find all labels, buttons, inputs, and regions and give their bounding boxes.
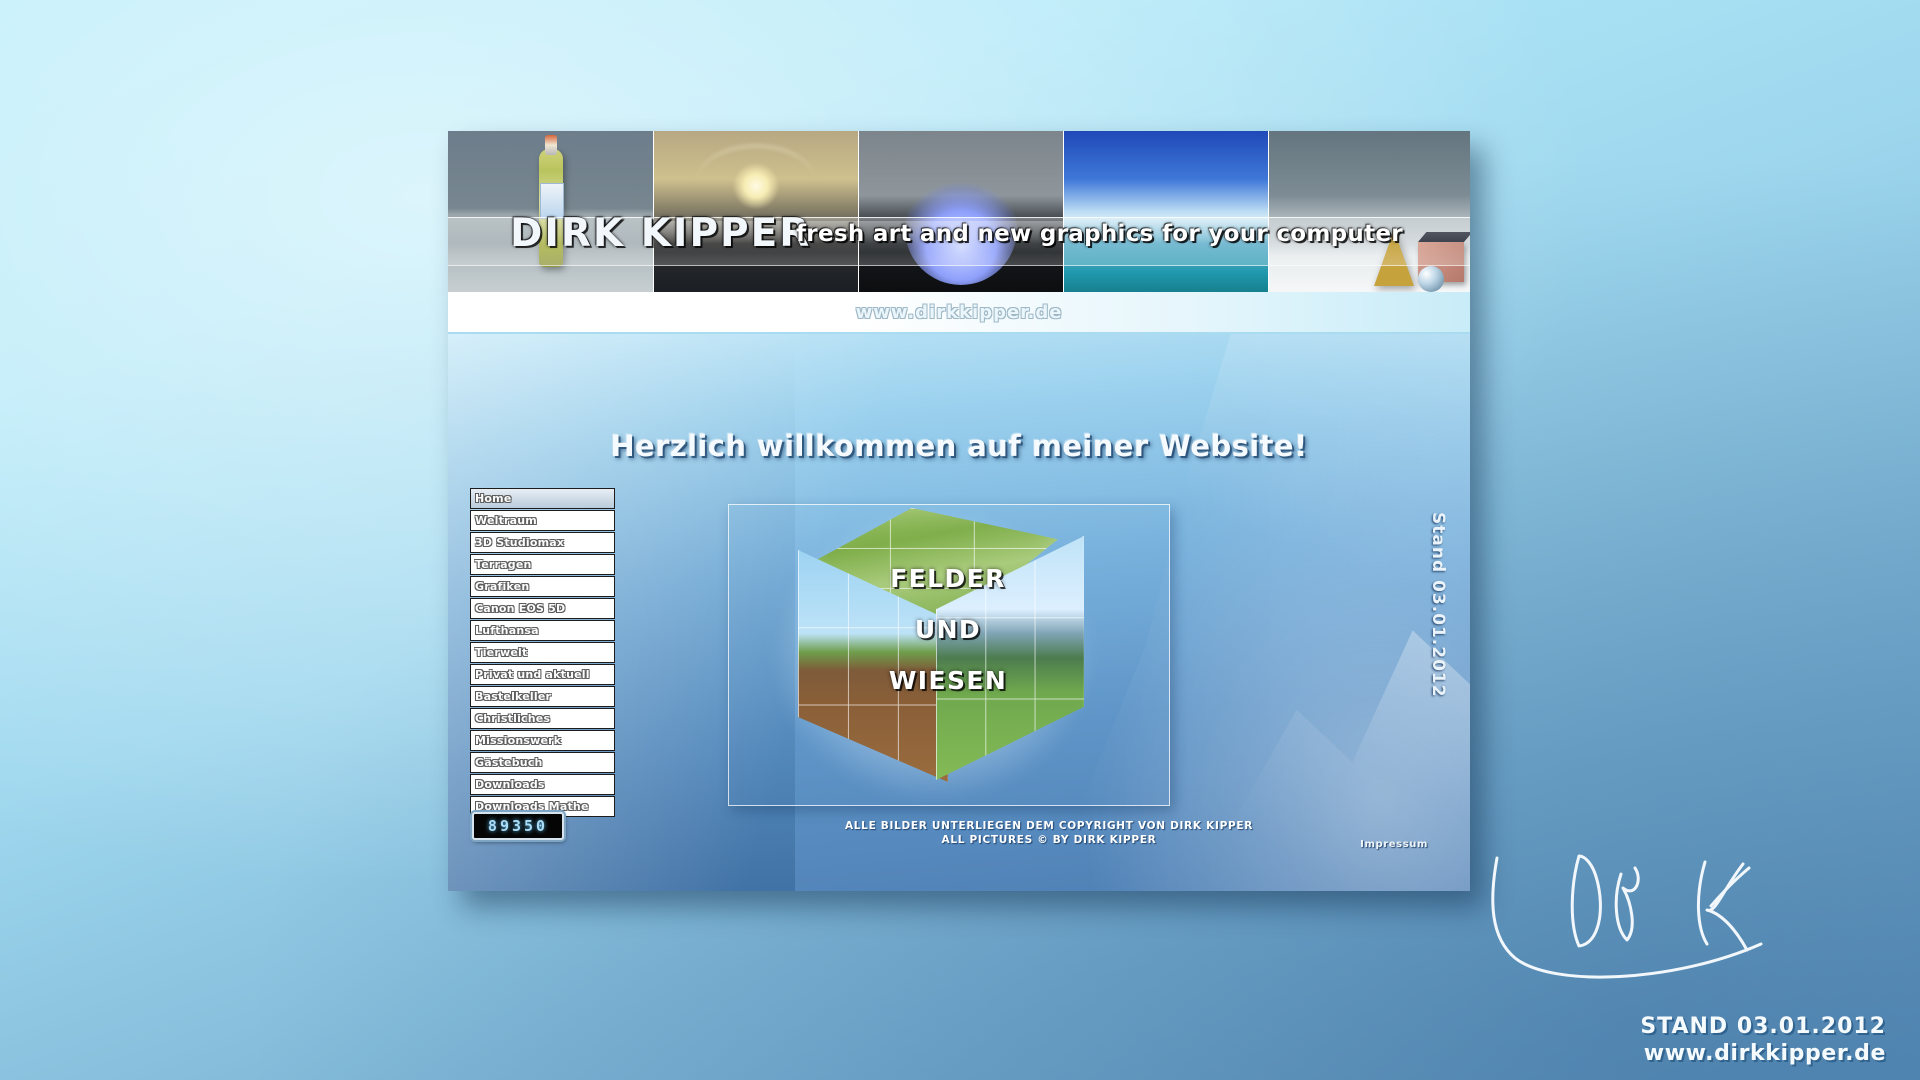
signature-graphic [1475,840,1875,990]
menu-item-christliches[interactable]: Christliches [470,708,615,729]
cube-caption: FELDER UND WIESEN [728,564,1168,717]
watermark-url: www.dirkkipper.de [1640,1041,1886,1066]
copyright-notice: ALLE BILDER UNTERLIEGEN DEM COPYRIGHT VO… [668,819,1430,847]
cube-caption-line3: WIESEN [728,666,1168,695]
cube-caption-line2: UND [728,615,1168,644]
menu-item-tierwelt[interactable]: Tierwelt [470,642,615,663]
menu-item-privat-und-aktuell[interactable]: Privat und aktuell [470,664,615,685]
site-url-bar: www.dirkkipper.de [448,292,1470,334]
visitor-counter: 89350 [472,812,564,840]
menu-item-bastelkeller[interactable]: Bastelkeller [470,686,615,707]
header-image-3d-objects [1268,131,1470,292]
header-image-ocean-sky [1063,131,1268,292]
menu-item-weltraum[interactable]: Weltraum [470,510,615,531]
menu-item-gaestebuch[interactable]: Gästebuch [470,752,615,773]
menu-item-downloads[interactable]: Downloads [470,774,615,795]
site-tagline: fresh art and new graphics for your comp… [796,221,1403,247]
impressum-link[interactable]: Impressum [1360,839,1428,850]
menu-item-terragen[interactable]: Terragen [470,554,615,575]
featured-cube-image[interactable]: FELDER UND WIESEN [728,494,1168,814]
site-title: DIRK KIPPER [510,211,811,256]
page-body: Herzlich willkommen auf meiner Website! … [448,334,1470,891]
watermark-stand: STAND 03.01.2012 [1640,1014,1886,1039]
website-window: DIRK KIPPER fresh art and new graphics f… [448,131,1470,891]
desktop-watermark: STAND 03.01.2012 www.dirkkipper.de [1640,1014,1886,1066]
site-url-text: www.dirkkipper.de [856,302,1063,323]
menu-item-home[interactable]: Home [470,488,615,509]
page-title: Herzlich willkommen auf meiner Website! [448,429,1470,463]
header-image-moonrise [858,131,1063,292]
sphere-icon [1418,266,1444,292]
menu-item-lufthansa[interactable]: Lufthansa [470,620,615,641]
stand-date-vertical: Stand 03.01.2012 [1428,512,1448,762]
menu-item-canon-eos-5d[interactable]: Canon EOS 5D [470,598,615,619]
header-image-strip: DIRK KIPPER fresh art and new graphics f… [448,131,1470,292]
copyright-english: ALL PICTURES © BY DIRK KIPPER [668,833,1430,847]
sun-icon [733,163,779,209]
menu-item-grafiken[interactable]: Grafiken [470,576,615,597]
menu-item-missionswerk[interactable]: Missionswerk [470,730,615,751]
visitor-counter-value: 89350 [488,817,548,835]
main-navigation: Home Weltraum 3D Studiomax Terragen Graf… [470,488,615,818]
cube-caption-line1: FELDER [728,564,1168,593]
menu-item-3d-studiomax[interactable]: 3D Studiomax [470,532,615,553]
copyright-german: ALLE BILDER UNTERLIEGEN DEM COPYRIGHT VO… [668,819,1430,833]
